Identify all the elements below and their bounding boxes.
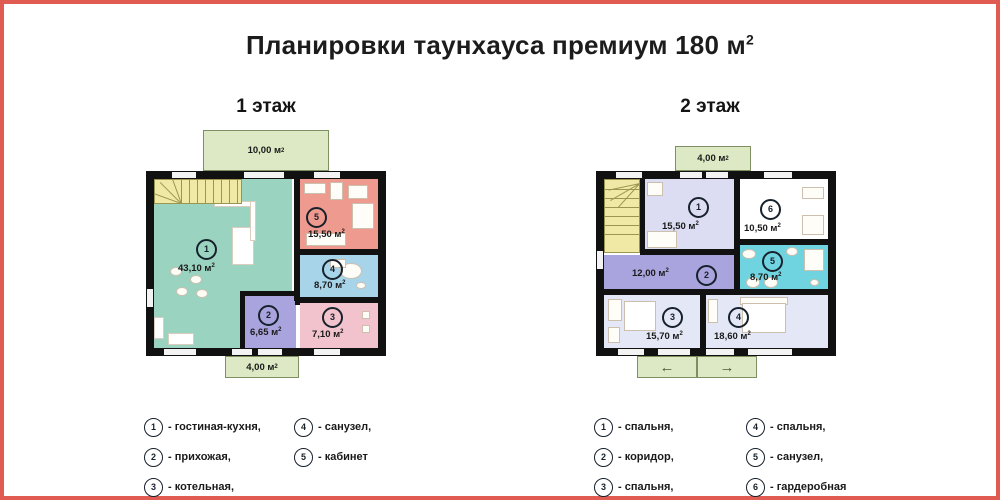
page-title-text: Планировки таунхауса премиум 180 м xyxy=(246,30,746,60)
floor-2-entry-arrow-left: ← xyxy=(637,356,697,378)
floor-2-legend-item-4: 4 - спальня, xyxy=(746,412,825,442)
floor-2-window-bottom-d xyxy=(748,348,792,356)
legend-label: - спальня, xyxy=(618,421,673,433)
floor-2-window-top-b xyxy=(680,171,702,179)
floor-2-room-2-area: 12,00 м2 xyxy=(632,268,669,279)
legend-row: 2 - коридор, 5 - санузел, xyxy=(594,442,904,472)
floor-2-room-4-number: 4 xyxy=(728,307,749,328)
floor-2-legend-item-6: 6 - гардеробная xyxy=(746,472,846,502)
floor-2-window-top-a xyxy=(616,171,642,179)
v: 6,65 м xyxy=(250,327,278,338)
floor-2-exterior-walls: 1 15,50 м2 6 10,50 м2 2 12,00 м2 5 8,70 … xyxy=(596,171,836,356)
floor-2-heading: 2 этаж xyxy=(610,96,810,118)
legend-label: - санузел, xyxy=(770,451,823,463)
v: 43,10 м xyxy=(178,263,211,274)
floor-2-partition-h-6-5 xyxy=(740,239,828,245)
floor-2-partition-v-stair xyxy=(640,179,645,253)
page-title-superscript: 2 xyxy=(746,31,754,47)
legend-row: 1 - спальня, 4 - спальня, xyxy=(594,412,904,442)
v: 12,00 м xyxy=(632,268,665,279)
floor-1-furniture-chair-d xyxy=(196,289,208,298)
floor-2-room-4-area: 18,60 м2 xyxy=(714,331,751,342)
floor-2-partition-h-1-corridor xyxy=(640,249,734,255)
legend-number-icon: 4 xyxy=(294,418,313,437)
floor-1-room-5-area: 15,50 м2 xyxy=(308,229,345,240)
floor-2-partition-v-1-6 xyxy=(734,179,740,291)
floor-1-partition-h-4-3 xyxy=(300,297,378,303)
floor-1-partition-v-hall-left xyxy=(240,291,245,348)
v: 18,60 м xyxy=(714,331,747,342)
floor-1-legend-item-5: 5 - кабинет xyxy=(294,442,368,472)
floor-1-heading: 1 этаж xyxy=(166,96,366,118)
floor-2-window-left xyxy=(596,251,604,269)
sup: 2 xyxy=(211,263,214,269)
floor-1-room-4-number: 4 xyxy=(322,259,343,280)
floor-1-porch-bottom: 4,00 м2 xyxy=(225,356,299,378)
floor-1-window-bottom-b xyxy=(232,348,252,356)
legend-label: - прихожая, xyxy=(168,451,231,463)
floor-1-legend: 1 - гостиная-кухня, 4 - санузел, 2 - при… xyxy=(144,412,444,502)
legend-number-icon: 2 xyxy=(594,448,613,467)
v: 10,50 м xyxy=(744,223,777,234)
floor-2-room-3-number: 3 xyxy=(662,307,683,328)
legend-label: - гостиная-кухня, xyxy=(168,421,261,433)
floor-1-partition-h-hall-top xyxy=(240,291,300,296)
sup: 2 xyxy=(777,223,780,229)
floor-2-window-bottom-a xyxy=(618,348,644,356)
floor-2-room-6-area: 10,50 м2 xyxy=(744,223,781,234)
legend-label: - спальня, xyxy=(618,481,673,493)
floorplan-page: Планировки таунхауса премиум 180 м2 1 эт… xyxy=(0,0,1000,500)
legend-number-icon: 2 xyxy=(144,448,163,467)
floor-2-interior: 1 15,50 м2 6 10,50 м2 2 12,00 м2 5 8,70 … xyxy=(604,179,828,348)
legend-number-icon: 6 xyxy=(746,478,765,497)
floor-1-furniture-island xyxy=(250,201,256,241)
floor-1-window-top-a xyxy=(172,171,196,179)
floor-1-window-bottom-c xyxy=(314,348,340,356)
sup: 2 xyxy=(342,280,345,286)
sup: 2 xyxy=(278,327,281,333)
floor-2-window-top-c xyxy=(706,171,728,179)
floor-2-legend: 1 - спальня, 4 - спальня, 2 - коридор, 5… xyxy=(594,412,904,502)
sup: 2 xyxy=(274,364,277,370)
floor-2-room-3-area: 15,70 м2 xyxy=(646,331,683,342)
v: 8,70 м xyxy=(750,272,778,283)
floor-2-partition-h-corridor-bottom xyxy=(604,289,828,295)
floor-2-window-bottom-b xyxy=(658,348,690,356)
floor-1-partition-v-hall-right xyxy=(295,291,300,305)
legend-row: 3 - спальня, 6 - гардеробная xyxy=(594,472,904,502)
floor-1-legend-item-2: 2 - прихожая, xyxy=(144,442,231,472)
floor-2-plan: 4,00 м2 ← → xyxy=(587,130,847,370)
sup: 2 xyxy=(281,148,284,154)
legend-label: - спальня, xyxy=(770,421,825,433)
floor-2-room-5 xyxy=(740,245,828,291)
floor-2-partition-v-3-4 xyxy=(700,295,706,348)
floor-1-exterior-walls: 1 43,10 м2 5 15,50 м2 4 8,70 м2 2 6,65 м… xyxy=(146,171,386,356)
legend-number-icon: 4 xyxy=(746,418,765,437)
v: 7,10 м xyxy=(312,329,340,340)
sup: 2 xyxy=(747,331,750,337)
floor-1-furniture-cabinet xyxy=(154,317,164,339)
sup: 2 xyxy=(725,156,728,162)
floor-2-staircase xyxy=(604,179,640,253)
floor-2-room-1 xyxy=(644,179,734,251)
floor-2-room-1-area: 15,50 м2 xyxy=(662,221,699,232)
legend-number-icon: 5 xyxy=(746,448,765,467)
v: 15,50 м xyxy=(308,229,341,240)
floor-1-legend-item-4: 4 - санузел, xyxy=(294,412,371,442)
floor-2-balcony-top: 4,00 м2 xyxy=(675,146,751,171)
v: 15,50 м xyxy=(662,221,695,232)
floor-1-window-top-b xyxy=(244,171,284,179)
legend-row: 2 - прихожая, 5 - кабинет xyxy=(144,442,444,472)
floor-2-room-6-number: 6 xyxy=(760,199,781,220)
floor-1-room-1-number: 1 xyxy=(196,239,217,260)
legend-label: - коридор, xyxy=(618,451,674,463)
sup: 2 xyxy=(778,272,781,278)
floor-1-partition-h-5-4 xyxy=(300,249,378,255)
floor-2-room-5-number: 5 xyxy=(762,251,783,272)
floor-2-window-top-d xyxy=(764,171,792,179)
floor-1-furniture-chair-c xyxy=(176,287,188,296)
legend-label: - кабинет xyxy=(318,451,368,463)
floor-1-furniture-chair-b xyxy=(190,275,202,284)
floor-1-window-left xyxy=(146,289,154,307)
floor-1-porch-area: 4,00 м xyxy=(246,362,274,373)
legend-row: 1 - гостиная-кухня, 4 - санузел, xyxy=(144,412,444,442)
floor-2-window-bottom-c xyxy=(706,348,734,356)
floor-1-partition-vertical-right xyxy=(294,179,300,301)
legend-label: - санузел, xyxy=(318,421,371,433)
floor-1-plan: 10,00 м2 4,00 м2 xyxy=(137,130,397,370)
floor-1-window-top-c xyxy=(314,171,340,179)
page-title: Планировки таунхауса премиум 180 м2 xyxy=(4,30,996,61)
floor-1-room-4-area: 8,70 м2 xyxy=(314,280,346,291)
floor-1-legend-item-3: 3 - котельная, xyxy=(144,472,234,502)
floor-1-interior: 1 43,10 м2 5 15,50 м2 4 8,70 м2 2 6,65 м… xyxy=(154,179,378,348)
sup: 2 xyxy=(695,221,698,227)
legend-number-icon: 3 xyxy=(594,478,613,497)
v: 15,70 м xyxy=(646,331,679,342)
floor-1-room-2-area: 6,65 м2 xyxy=(250,327,282,338)
floor-1-room-5-number: 5 xyxy=(306,207,327,228)
floor-2-legend-item-3: 3 - спальня, xyxy=(594,472,673,502)
floor-1-room-1-area: 43,10 м2 xyxy=(178,263,215,274)
floor-1-legend-item-1: 1 - гостиная-кухня, xyxy=(144,412,261,442)
sup: 2 xyxy=(665,268,668,274)
floor-1-room-3-area: 7,10 м2 xyxy=(312,329,344,340)
floor-2-legend-item-1: 1 - спальня, xyxy=(594,412,673,442)
floor-1-room-3-number: 3 xyxy=(322,307,343,328)
sup: 2 xyxy=(340,329,343,335)
legend-number-icon: 1 xyxy=(144,418,163,437)
floor-1-terrace-top: 10,00 м2 xyxy=(203,130,329,171)
floor-1-window-bottom-a xyxy=(164,348,196,356)
floor-2-entry-arrow-right: → xyxy=(697,356,757,378)
legend-row: 3 - котельная, xyxy=(144,472,444,502)
legend-label: - гардеробная xyxy=(770,481,846,493)
floor-1-door-bottom xyxy=(258,348,282,356)
floor-2-room-5-area: 8,70 м2 xyxy=(750,272,782,283)
floor-2-legend-item-2: 2 - коридор, xyxy=(594,442,674,472)
floor-2-legend-item-5: 5 - санузел, xyxy=(746,442,823,472)
legend-number-icon: 1 xyxy=(594,418,613,437)
floor-2-room-2-number: 2 xyxy=(696,265,717,286)
legend-number-icon: 5 xyxy=(294,448,313,467)
legend-label: - котельная, xyxy=(168,481,234,493)
floor-1-furniture-bench xyxy=(168,333,194,345)
floor-1-staircase xyxy=(154,179,242,204)
floor-1-room-2-number: 2 xyxy=(258,305,279,326)
floor-2-balcony-top-area: 4,00 м xyxy=(697,153,725,164)
v: 8,70 м xyxy=(314,280,342,291)
sup: 2 xyxy=(679,331,682,337)
floor-1-terrace-top-area: 10,00 м xyxy=(248,145,281,156)
legend-number-icon: 3 xyxy=(144,478,163,497)
sup: 2 xyxy=(341,229,344,235)
floor-2-room-1-number: 1 xyxy=(688,197,709,218)
